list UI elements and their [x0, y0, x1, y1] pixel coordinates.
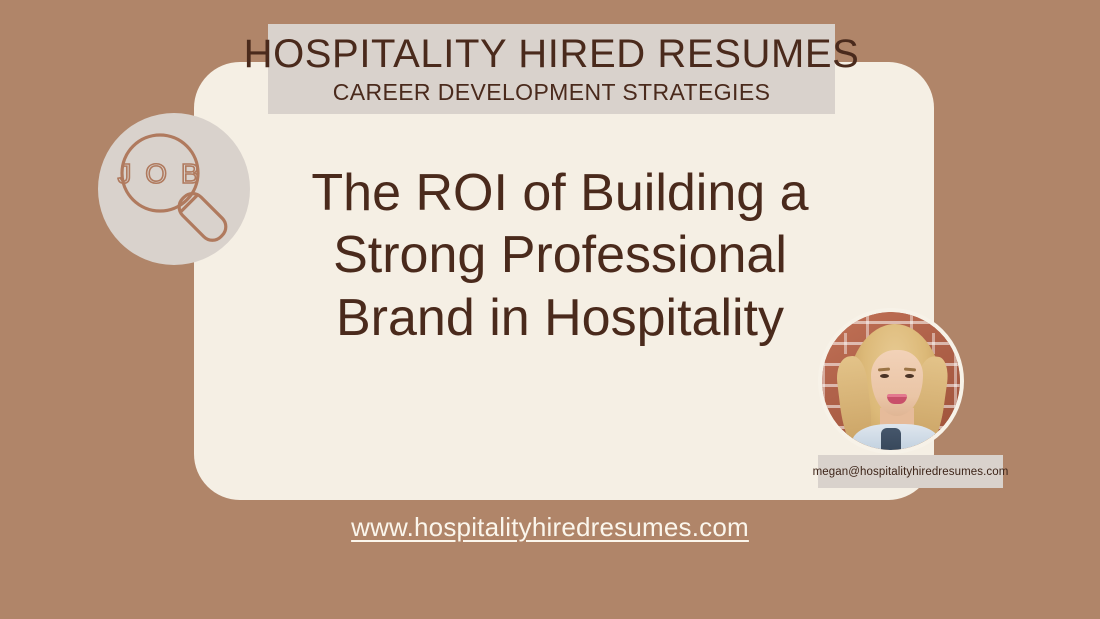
avatar-image: [822, 312, 960, 450]
eyebrow-left: [878, 367, 890, 371]
page-title: The ROI of Building a Strong Professiona…: [300, 162, 820, 349]
eye-left: [880, 374, 889, 378]
brand-title: HOSPITALITY HIRED RESUMES: [244, 33, 860, 75]
brand-subtitle: CAREER DEVELOPMENT STRATEGIES: [333, 79, 771, 107]
header-banner: HOSPITALITY HIRED RESUMES CAREER DEVELOP…: [268, 24, 835, 114]
job-logo-badge: J O B: [98, 113, 250, 265]
mouth: [887, 394, 907, 404]
job-lens-label: J O B: [117, 158, 202, 189]
eyebrow-right: [904, 367, 916, 371]
avatar: [818, 308, 964, 454]
clothing-center-panel: [881, 428, 901, 450]
email-address: megan@hospitalityhiredresumes.com: [813, 466, 1009, 478]
magnifying-glass-job-icon: J O B: [98, 113, 250, 265]
eye-right: [905, 374, 914, 378]
website-url[interactable]: www.hospitalityhiredresumes.com: [0, 512, 1100, 543]
email-badge: megan@hospitalityhiredresumes.com: [818, 455, 1003, 488]
